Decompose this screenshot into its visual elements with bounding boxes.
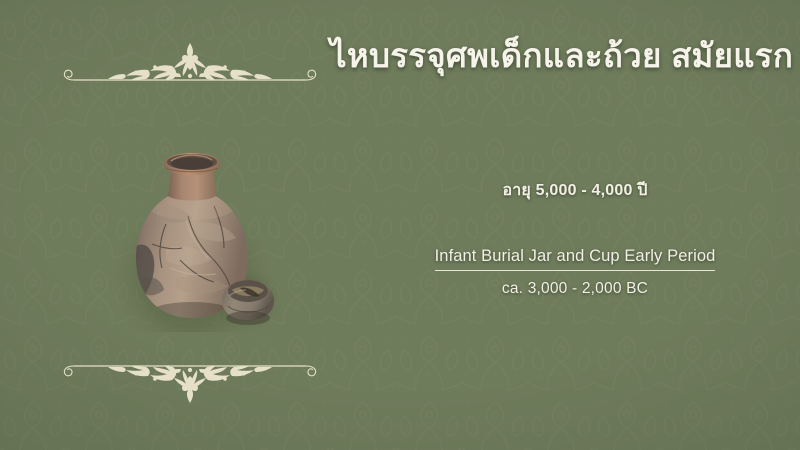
top-flourish-divider <box>60 36 320 92</box>
artifact-image <box>96 128 288 332</box>
caption-name-english: Infant Burial Jar and Cup Early Period <box>435 247 716 271</box>
caption-date-english: ca. 3,000 - 2,000 BC <box>420 280 730 298</box>
bottom-flourish-divider <box>60 352 320 412</box>
slide-canvas: ไหบรรจุศพเด็กและถ้วย สมัยแรก อายุ 5,000 … <box>0 0 800 450</box>
page-title: ไหบรรจุศพเด็กและถ้วย สมัยแรก <box>330 35 780 76</box>
caption-age-thai: อายุ 5,000 - 4,000 ปี <box>420 178 730 203</box>
caption-block: อายุ 5,000 - 4,000 ปี Infant Burial Jar … <box>420 178 730 298</box>
small-cup <box>222 280 274 325</box>
